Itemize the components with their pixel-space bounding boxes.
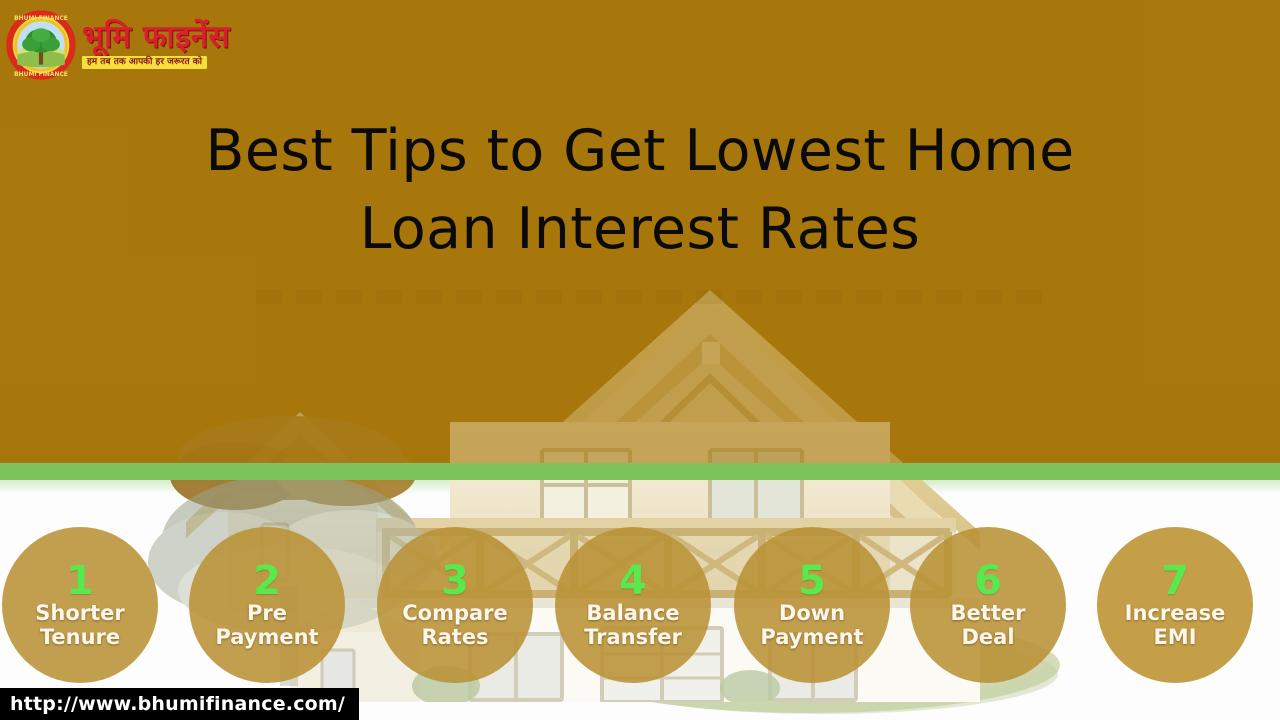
step-number-6: 6: [974, 562, 1002, 600]
step-circle-6[interactable]: 6 Better Deal: [910, 527, 1066, 683]
website-url-bar[interactable]: http://www.bhumifinance.com/: [0, 688, 359, 720]
step-label-3: Compare Rates: [402, 601, 508, 649]
step-circle-4[interactable]: 4 Balance Transfer: [555, 527, 711, 683]
step-label-2: Pre Payment: [215, 601, 318, 649]
step-label-1: Shorter Tenure: [35, 601, 125, 649]
website-url-text: http://www.bhumifinance.com/: [10, 693, 345, 715]
step-number-7: 7: [1161, 562, 1189, 600]
step-label-7: Increase EMI: [1125, 601, 1226, 649]
step-circle-3[interactable]: 3 Compare Rates: [377, 527, 533, 683]
step-label-6: Better Deal: [951, 601, 1026, 649]
step-number-1: 1: [66, 562, 94, 600]
step-circle-5[interactable]: 5 Down Payment: [734, 527, 890, 683]
step-circle-1[interactable]: 1 Shorter Tenure: [2, 527, 158, 683]
step-number-4: 4: [619, 562, 647, 600]
step-number-2: 2: [253, 562, 281, 600]
step-label-4: Balance Transfer: [584, 601, 682, 649]
slide-canvas: BHUMI FINANCE BHUMI FINANCE भूमि फाइनेंस…: [0, 0, 1280, 720]
steps-row: 1 Shorter Tenure 2 Pre Payment 3 Compare…: [0, 0, 1280, 720]
step-circle-2[interactable]: 2 Pre Payment: [189, 527, 345, 683]
step-number-5: 5: [798, 562, 826, 600]
step-label-5: Down Payment: [760, 601, 863, 649]
step-circle-7[interactable]: 7 Increase EMI: [1097, 527, 1253, 683]
step-number-3: 3: [441, 562, 469, 600]
